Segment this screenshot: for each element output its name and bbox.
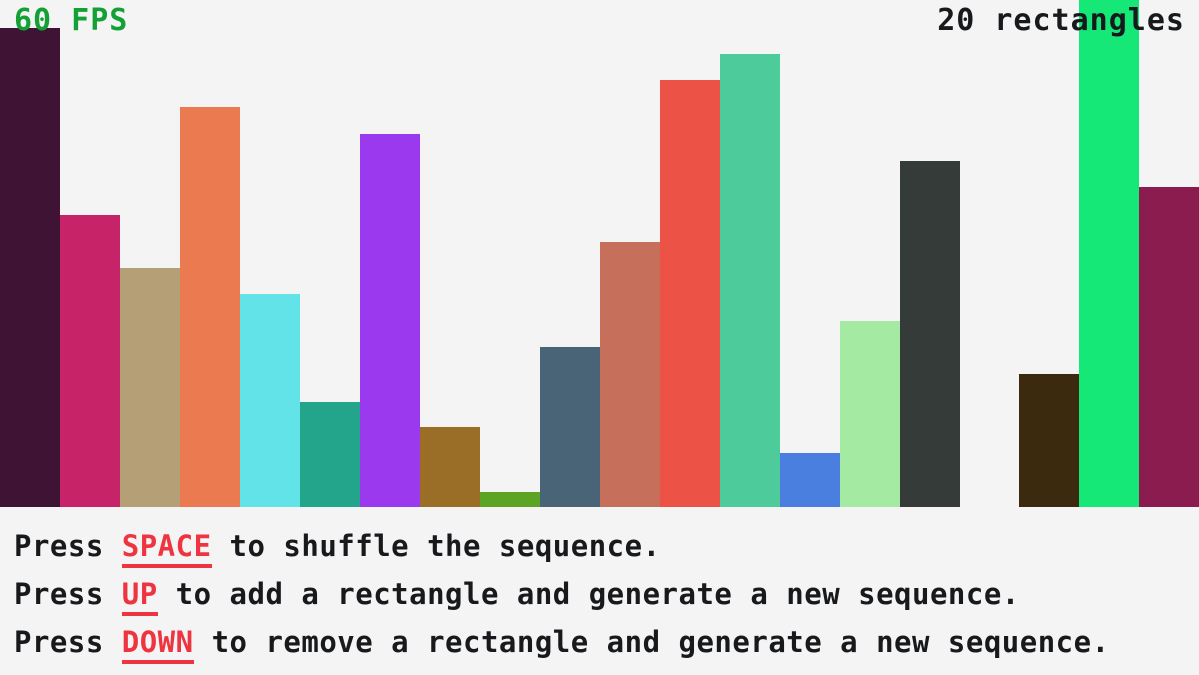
bar-12 [660,80,720,507]
instructions-panel: Press SPACE to shuffle the sequence. Pre… [0,507,1199,675]
instruction-prefix: Press [14,577,122,611]
bar-11 [600,242,660,507]
instruction-line-remove: Press DOWN to remove a rectangle and gen… [14,618,1199,666]
bar-1 [0,28,60,507]
fps-counter: 60 FPS [14,6,128,36]
bar-20 [1139,187,1199,507]
key-hint-up[interactable]: UP [122,577,158,616]
bar-14 [780,453,840,507]
bar-3 [120,268,180,507]
bar-7 [360,134,420,507]
rectangle-chart-canvas[interactable] [0,0,1199,507]
bar-5 [240,294,300,507]
instruction-prefix: Press [14,625,122,659]
bar-16 [900,161,960,507]
instruction-line-add: Press UP to add a rectangle and generate… [14,570,1199,618]
key-hint-space[interactable]: SPACE [122,529,212,568]
rectangle-count-label: 20 rectangles [937,6,1185,36]
instruction-suffix: to remove a rectangle and generate a new… [194,625,1110,659]
bar-18 [1019,374,1079,507]
instruction-prefix: Press [14,529,122,563]
instruction-suffix: to shuffle the sequence. [212,529,661,563]
bar-6 [300,402,360,507]
bar-13 [720,54,780,507]
rectangle-sequence-app: 60 FPS 20 rectangles Press SPACE to shuf… [0,0,1199,675]
bar-4 [180,107,240,507]
bar-10 [540,347,600,507]
bar-15 [840,321,900,507]
bar-19 [1079,0,1139,507]
bar-9 [480,492,540,507]
instruction-suffix: to add a rectangle and generate a new se… [158,577,1020,611]
bar-8 [420,427,480,507]
key-hint-down[interactable]: DOWN [122,625,194,664]
bar-2 [60,215,120,507]
instruction-line-shuffle: Press SPACE to shuffle the sequence. [14,522,1199,570]
